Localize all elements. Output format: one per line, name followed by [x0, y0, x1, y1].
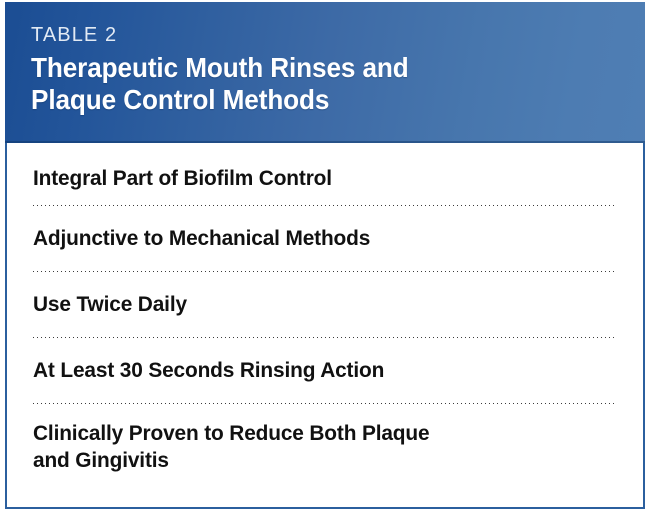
table-header: TABLE 2 Therapeutic Mouth Rinses and Pla…: [5, 2, 645, 143]
table-row-label: Adjunctive to Mechanical Methods: [33, 225, 370, 252]
table-row: At Least 30 Seconds Rinsing Action: [33, 338, 619, 403]
table-row-label: At Least 30 Seconds Rinsing Action: [33, 357, 384, 384]
table-row: Use Twice Daily: [33, 272, 619, 337]
table-title-line-2: Plaque Control Methods: [31, 84, 614, 116]
table-row-line-2: and Gingivitis: [33, 447, 429, 474]
table-card: TABLE 2 Therapeutic Mouth Rinses and Pla…: [5, 2, 645, 509]
table-row-label: Integral Part of Biofilm Control: [33, 165, 332, 192]
table-row: Adjunctive to Mechanical Methods: [33, 206, 619, 271]
table-number-label: TABLE 2: [31, 24, 645, 46]
table-row-line-1: At Least 30 Seconds Rinsing Action: [33, 357, 384, 384]
table-row-line-1: Adjunctive to Mechanical Methods: [33, 225, 370, 252]
table-row-line-1: Use Twice Daily: [33, 291, 187, 318]
table-row: Clinically Proven to Reduce Both Plaque …: [33, 404, 619, 499]
table-row-label: Use Twice Daily: [33, 291, 187, 318]
table-title-line-1: Therapeutic Mouth Rinses and: [31, 52, 614, 84]
table-row-line-1: Integral Part of Biofilm Control: [33, 165, 332, 192]
table-title: Therapeutic Mouth Rinses and Plaque Cont…: [31, 52, 614, 116]
table-body: Integral Part of Biofilm Control Adjunct…: [5, 143, 645, 509]
table-row: Integral Part of Biofilm Control: [33, 143, 619, 205]
table-row-label: Clinically Proven to Reduce Both Plaque …: [33, 420, 429, 474]
table-row-line-1: Clinically Proven to Reduce Both Plaque: [33, 420, 429, 447]
